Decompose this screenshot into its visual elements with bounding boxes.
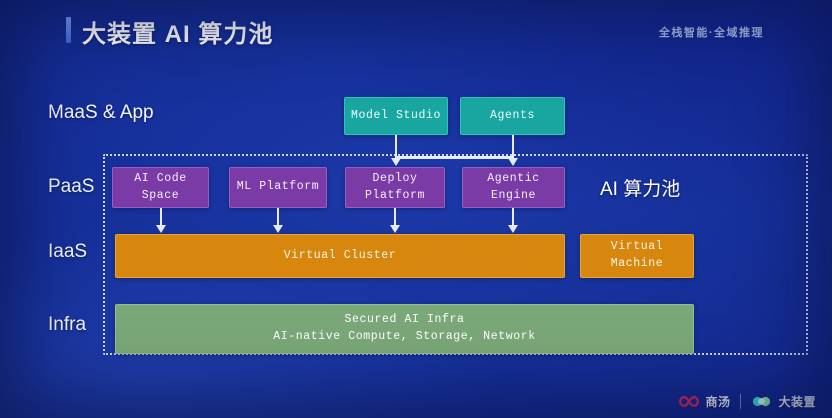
node-deploy-platform-label: Deploy Platform (346, 171, 444, 204)
arrowhead-agentic-engine-to-cluster (508, 225, 518, 233)
node-agents-label: Agents (490, 108, 535, 125)
node-model-studio-label: Model Studio (351, 108, 441, 125)
tier-label-maas: MaaS & App (48, 102, 154, 124)
node-ml-platform-label: ML Platform (237, 179, 320, 196)
node-ai-code-space[interactable]: AI Code Space (112, 167, 209, 208)
connector-code-space-down (160, 208, 162, 226)
title-accent-bar (66, 17, 71, 43)
node-model-studio[interactable]: Model Studio (344, 97, 448, 135)
node-virtual-cluster-label: Virtual Cluster (284, 248, 397, 265)
node-virtual-cluster[interactable]: Virtual Cluster (115, 234, 565, 278)
dots-icon (751, 395, 773, 408)
page-title: 大装置 AI 算力池 (82, 14, 273, 49)
slide-canvas: 大装置 AI 算力池 全栈智能·全域推理 MaaS & App PaaS Iaa… (0, 0, 832, 418)
node-agentic-engine[interactable]: Agentic Engine (462, 167, 565, 208)
arrowhead-code-space-to-cluster (156, 225, 166, 233)
logo-divider (740, 394, 741, 409)
ai-compute-pool-caption: AI 算力池 (600, 174, 680, 201)
arrowhead-deploy-platform-to-cluster (390, 225, 400, 233)
node-secured-ai-infra-line2: AI-native Compute, Storage, Network (273, 329, 536, 346)
logo-sensetime-name: 商汤 (705, 393, 730, 410)
connector-agentic-engine-down (512, 208, 514, 226)
tier-label-infra: Infra (48, 314, 86, 336)
logo-sensecore-name: 大装置 (778, 393, 816, 410)
node-agents[interactable]: Agents (460, 97, 565, 135)
logo-sensecore: 大装置 (751, 393, 816, 410)
arrowhead-to-deploy-platform (391, 158, 401, 166)
node-virtual-machine-label: Virtual Machine (581, 239, 693, 272)
logo-sensetime: 商汤 (678, 393, 730, 410)
connector-agents-down (512, 135, 514, 158)
node-ml-platform[interactable]: ML Platform (229, 167, 327, 208)
infinity-icon (678, 395, 700, 408)
connector-deploy-platform-down (394, 208, 396, 226)
footer-logo-bar: 商汤 大装置 (678, 393, 816, 410)
node-secured-ai-infra-line1: Secured AI Infra (344, 312, 464, 329)
connector-bridge-horizontal (395, 156, 514, 159)
node-agentic-engine-label: Agentic Engine (463, 171, 564, 204)
node-virtual-machine[interactable]: Virtual Machine (580, 234, 694, 278)
tier-label-paas: PaaS (48, 176, 94, 198)
arrowhead-to-agentic-engine (508, 158, 518, 166)
node-deploy-platform[interactable]: Deploy Platform (345, 167, 445, 208)
node-ai-code-space-label: AI Code Space (113, 171, 208, 204)
page-subtitle: 全栈智能·全域推理 (659, 24, 764, 40)
tier-label-iaas: IaaS (48, 241, 87, 263)
node-secured-ai-infra[interactable]: Secured AI Infra AI-native Compute, Stor… (115, 304, 694, 354)
connector-model-studio-down (395, 135, 397, 158)
arrowhead-ml-platform-to-cluster (273, 225, 283, 233)
connector-ml-platform-down (277, 208, 279, 226)
